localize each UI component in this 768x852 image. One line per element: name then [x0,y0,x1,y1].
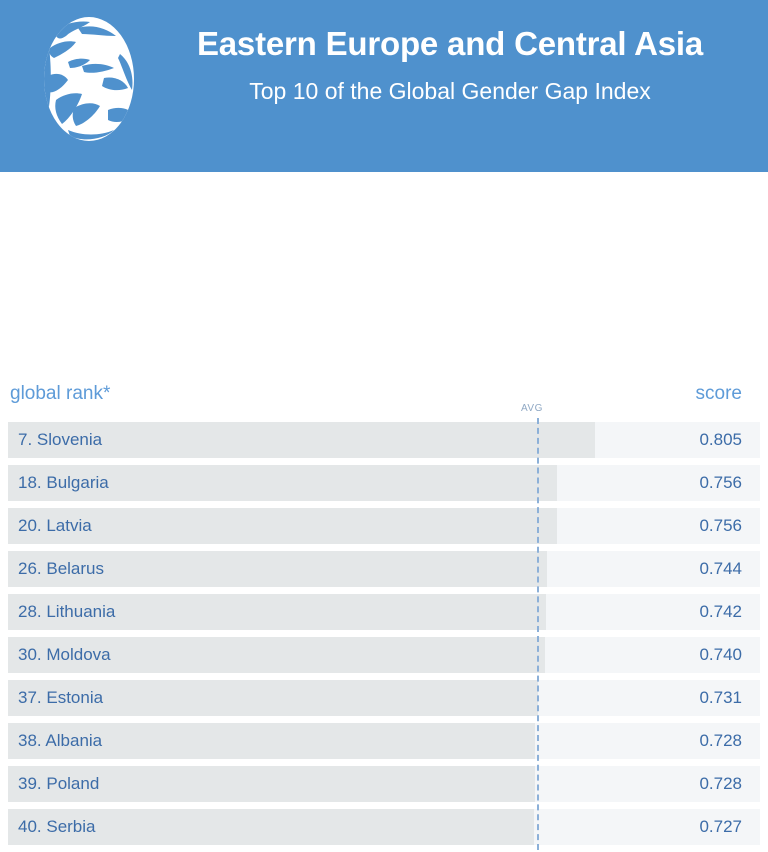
row-rank-label: 7. Slovenia [18,422,102,458]
row-score-value: 0.740 [699,637,742,673]
row-rank-label: 39. Poland [18,766,99,802]
globe-icon [38,14,140,144]
table-row: 26. Belarus0.744 [0,551,768,587]
row-rank-label: 37. Estonia [18,680,103,716]
row-rank-label: 38. Albania [18,723,102,759]
page-subtitle: Top 10 of the Global Gender Gap Index [150,74,750,108]
row-rank-label: 20. Latvia [18,508,92,544]
table-row: 38. Albania0.728 [0,723,768,759]
table-row: 39. Poland0.728 [0,766,768,802]
row-rank-label: 30. Moldova [18,637,111,673]
table-row: 20. Latvia0.756 [0,508,768,544]
row-score-value: 0.756 [699,508,742,544]
row-rank-label: 40. Serbia [18,809,96,845]
row-score-value: 0.728 [699,766,742,802]
page-title: Eastern Europe and Central Asia [150,22,750,66]
ranking-rows: 7. Slovenia0.80518. Bulgaria0.75620. Lat… [0,422,768,852]
row-score-value: 0.742 [699,594,742,630]
row-rank-label: 26. Belarus [18,551,104,587]
ranking-chart: global rank* score AVG 7. Slovenia0.8051… [0,172,768,688]
row-score-value: 0.744 [699,551,742,587]
table-row: 37. Estonia0.731 [0,680,768,716]
column-header-rank: global rank* [10,383,110,405]
header-banner: Eastern Europe and Central Asia Top 10 o… [0,0,768,172]
table-row: 18. Bulgaria0.756 [0,465,768,501]
table-row: 28. Lithuania0.742 [0,594,768,630]
table-row: 7. Slovenia0.805 [0,422,768,458]
avg-reference-line [537,418,539,850]
row-score-value: 0.756 [699,465,742,501]
row-score-value: 0.727 [699,809,742,845]
row-rank-label: 28. Lithuania [18,594,115,630]
column-header-score: score [696,383,742,405]
avg-label: AVG [521,403,543,414]
row-score-value: 0.728 [699,723,742,759]
row-score-value: 0.731 [699,680,742,716]
header-text-block: Eastern Europe and Central Asia Top 10 o… [150,22,750,108]
row-score-value: 0.805 [699,422,742,458]
table-row: 40. Serbia0.727 [0,809,768,845]
row-rank-label: 18. Bulgaria [18,465,109,501]
table-row: 30. Moldova0.740 [0,637,768,673]
